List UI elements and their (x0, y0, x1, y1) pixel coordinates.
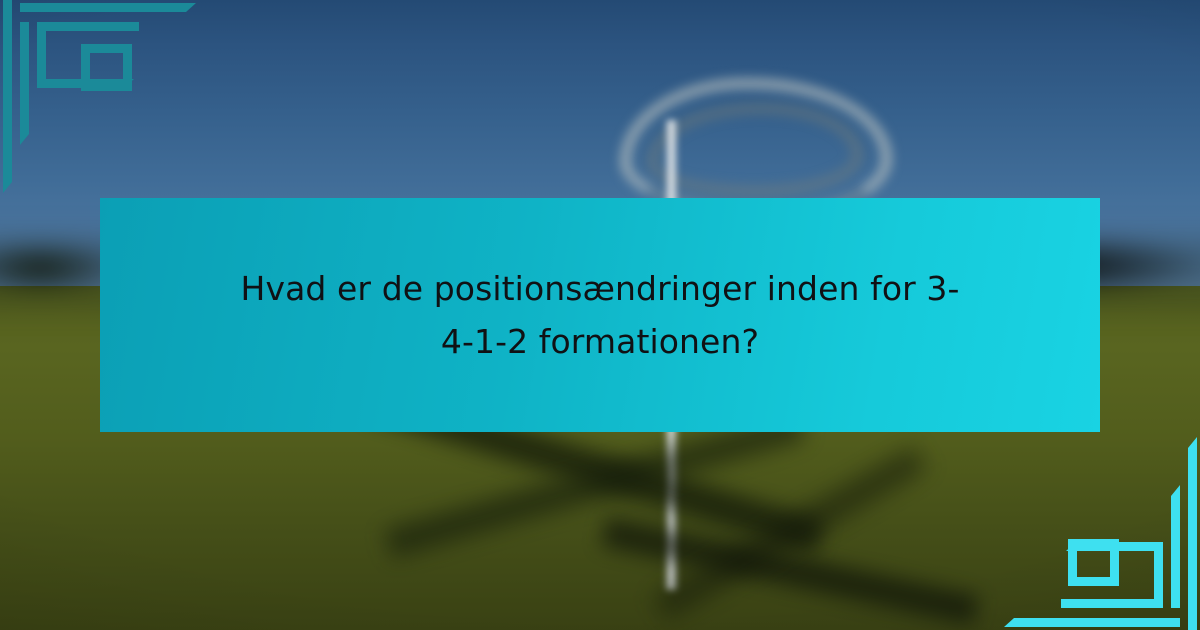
top-left-corner-ornament (0, 0, 220, 200)
page-title: Hvad er de positionsændringer inden for … (230, 262, 970, 369)
headline-banner: Hvad er de positionsændringer inden for … (100, 198, 1100, 432)
social-question-card: Hvad er de positionsændringer inden for … (0, 0, 1200, 630)
bottom-right-corner-ornament (980, 430, 1200, 630)
